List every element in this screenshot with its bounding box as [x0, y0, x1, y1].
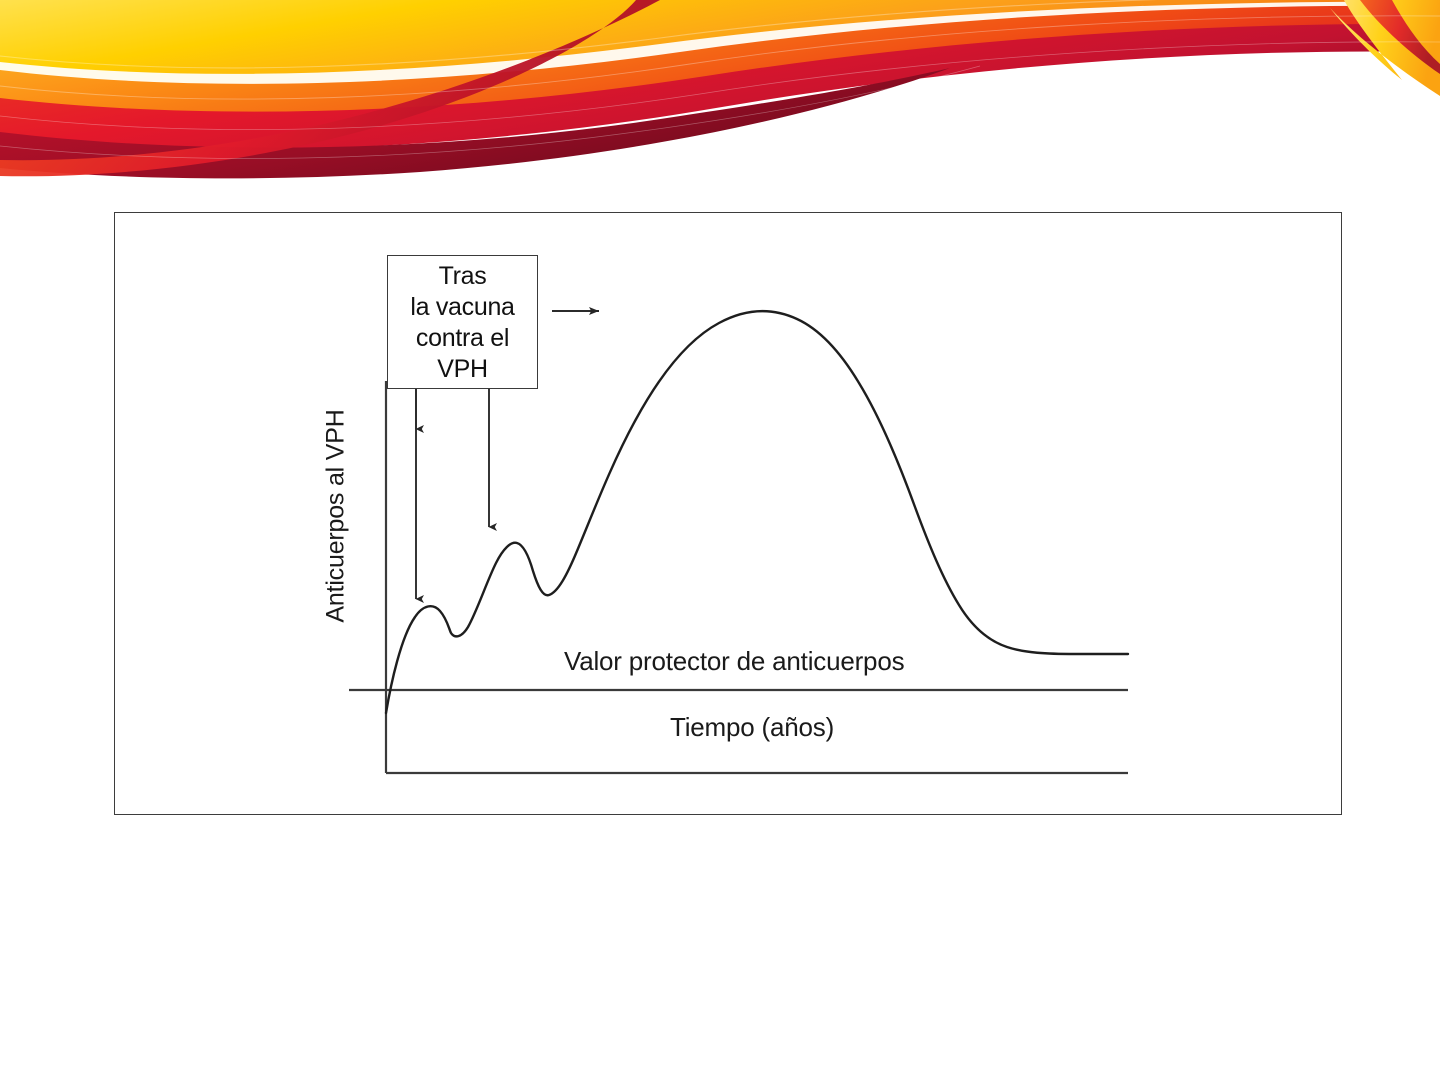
y-axis-label-text: Anticuerpos al VPH	[322, 409, 351, 622]
callout-line-1: Tras	[439, 261, 487, 292]
callout-line-4: VPH	[437, 354, 488, 385]
threshold-label: Valor protector de anticuerpos	[564, 646, 904, 677]
callout-box: Tras la vacuna contra el VPH	[387, 255, 538, 389]
callout-line-3: contra el	[416, 323, 509, 354]
x-axis-label: Tiempo (años)	[670, 712, 834, 743]
callout-line-2: la vacuna	[410, 292, 514, 323]
y-axis-label: Anticuerpos al VPH	[319, 386, 353, 646]
decorative-swoosh-banner	[0, 0, 1440, 185]
figure-outer-frame: Anticuerpos al VPH Tras la vacuna contra…	[114, 212, 1342, 815]
swoosh-graphic	[0, 0, 1440, 185]
